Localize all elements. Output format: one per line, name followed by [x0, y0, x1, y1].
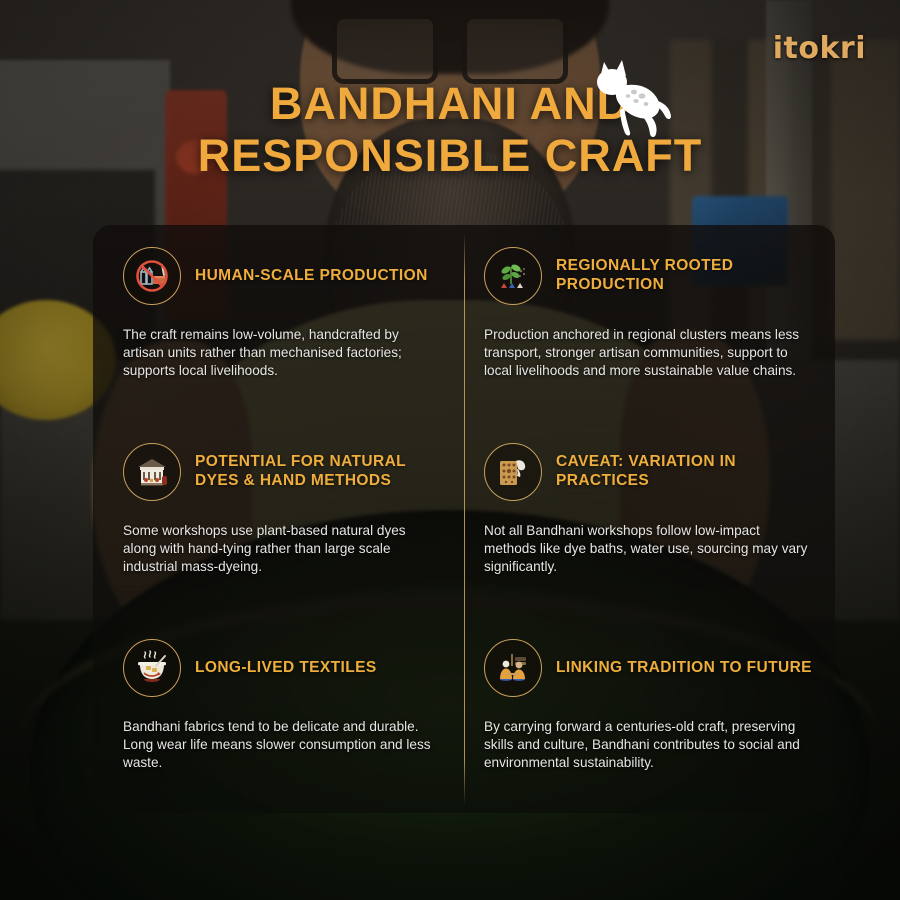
card-title: LINKING TRADITION TO FUTURE [556, 659, 812, 678]
no-factory-icon [123, 247, 181, 305]
card-natural-dyes-hand-methods: POTENTIAL FOR NATURAL DYES & HAND METHOD… [93, 421, 464, 617]
card-title: REGIONALLY ROOTED PRODUCTION [556, 257, 813, 294]
card-title: LONG-LIVED TEXTILES [195, 659, 377, 678]
itokri-logo[interactable]: itokri [773, 34, 866, 64]
card-caveat-variation-in-practices: CAVEAT: VARIATION IN PRACTICES Not all B… [464, 421, 835, 617]
fabric-swatch-hand-icon [484, 443, 542, 501]
card-header: HUMAN-SCALE PRODUCTION [123, 247, 440, 305]
card-title: HUMAN-SCALE PRODUCTION [195, 267, 428, 286]
card-header: REGIONALLY ROOTED PRODUCTION [484, 247, 813, 305]
card-body: By carrying forward a centuries-old craf… [484, 718, 813, 772]
sprout-dye-icon [484, 247, 542, 305]
cards-grid: HUMAN-SCALE PRODUCTION The craft remains… [93, 225, 835, 813]
card-body: Some workshops use plant-based natural d… [123, 522, 440, 576]
cat-mascot-icon [578, 56, 674, 140]
content-panel: HUMAN-SCALE PRODUCTION The craft remains… [93, 225, 835, 813]
card-human-scale-production: HUMAN-SCALE PRODUCTION The craft remains… [93, 225, 464, 421]
page-title: BANDHANI AND RESPONSIBLE CRAFT [0, 78, 900, 182]
page-title-line-2: RESPONSIBLE CRAFT [90, 130, 810, 182]
card-regionally-rooted-production: REGIONALLY ROOTED PRODUCTION Production … [464, 225, 835, 421]
card-body: Production anchored in regional clusters… [484, 326, 813, 380]
card-header: LINKING TRADITION TO FUTURE [484, 639, 813, 697]
workshop-building-icon [123, 443, 181, 501]
dye-pot-icon [123, 639, 181, 697]
card-header: POTENTIAL FOR NATURAL DYES & HAND METHOD… [123, 443, 440, 501]
card-body: Not all Bandhani workshops follow low-im… [484, 522, 813, 576]
artisans-weaving-icon [484, 639, 542, 697]
card-header: LONG-LIVED TEXTILES [123, 639, 440, 697]
page-title-line-1: BANDHANI AND [90, 78, 810, 130]
card-long-lived-textiles: LONG-LIVED TEXTILES Bandhani fabrics ten… [93, 617, 464, 813]
card-body: Bandhani fabrics tend to be delicate and… [123, 718, 440, 772]
card-header: CAVEAT: VARIATION IN PRACTICES [484, 443, 813, 501]
card-linking-tradition-to-future: LINKING TRADITION TO FUTURE By carrying … [464, 617, 835, 813]
card-title: CAVEAT: VARIATION IN PRACTICES [556, 453, 813, 490]
card-title: POTENTIAL FOR NATURAL DYES & HAND METHOD… [195, 453, 440, 490]
card-body: The craft remains low-volume, handcrafte… [123, 326, 440, 380]
